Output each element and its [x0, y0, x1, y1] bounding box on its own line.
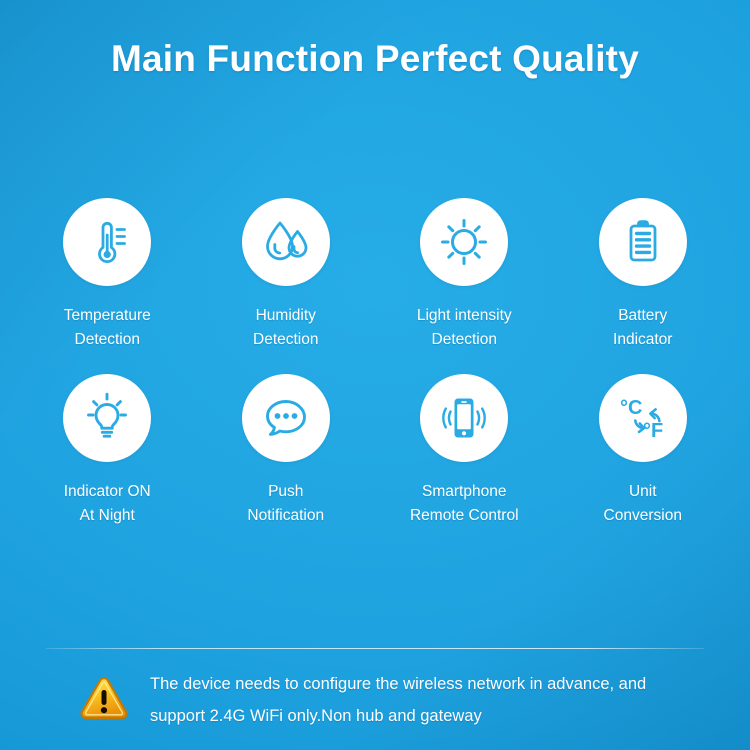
celsius-fahrenheit-icon: °C °F — [614, 389, 672, 447]
feature-label: Battery Indicator — [613, 304, 672, 352]
promo-banner: Main Function Perfect Quality Temperatur… — [0, 0, 750, 750]
feature-item-smartphone-remote[interactable]: Smartphone Remote Control — [375, 374, 554, 528]
feature-label: Push Notification — [247, 480, 324, 528]
svg-text:°C: °C — [620, 397, 642, 419]
page-title: Main Function Perfect Quality — [0, 38, 750, 80]
feature-icon-circle — [242, 198, 330, 286]
section-divider — [46, 648, 704, 649]
feature-item-battery[interactable]: Battery Indicator — [554, 198, 733, 352]
notice-text: The device needs to configure the wirele… — [150, 668, 646, 732]
feature-item-temperature[interactable]: Temperature Detection — [18, 198, 197, 352]
feature-icon-circle — [242, 374, 330, 462]
sun-icon — [436, 214, 492, 270]
speech-bubble-icon — [258, 390, 314, 446]
battery-icon — [617, 216, 669, 268]
notice-bar: The device needs to configure the wirele… — [78, 668, 678, 732]
feature-item-light-intensity[interactable]: Light intensity Detection — [375, 198, 554, 352]
feature-icon-circle — [63, 198, 151, 286]
feature-label: Light intensity Detection — [417, 304, 512, 352]
feature-item-push-notification[interactable]: Push Notification — [197, 374, 376, 528]
feature-icon-circle — [63, 374, 151, 462]
feature-item-humidity[interactable]: Humidity Detection — [197, 198, 376, 352]
feature-grid: Temperature Detection Humidity Detection — [18, 198, 732, 528]
feature-label: Temperature Detection — [64, 304, 151, 352]
smartphone-vibrate-icon — [436, 390, 492, 446]
feature-label: Indicator ON At Night — [64, 480, 151, 528]
feature-label: Smartphone Remote Control — [410, 480, 519, 528]
feature-label: Unit Conversion — [604, 480, 682, 528]
feature-icon-circle — [420, 198, 508, 286]
lightbulb-icon — [79, 390, 135, 446]
feature-icon-circle — [420, 374, 508, 462]
feature-icon-circle: °C °F — [599, 374, 687, 462]
water-drops-icon — [258, 214, 314, 270]
feature-label: Humidity Detection — [253, 304, 318, 352]
thermometer-icon — [80, 215, 134, 269]
svg-text:°F: °F — [643, 420, 663, 442]
warning-triangle-icon — [78, 674, 130, 727]
feature-icon-circle — [599, 198, 687, 286]
feature-item-night-indicator[interactable]: Indicator ON At Night — [18, 374, 197, 528]
feature-item-unit-conversion[interactable]: °C °F Unit Conversion — [554, 374, 733, 528]
